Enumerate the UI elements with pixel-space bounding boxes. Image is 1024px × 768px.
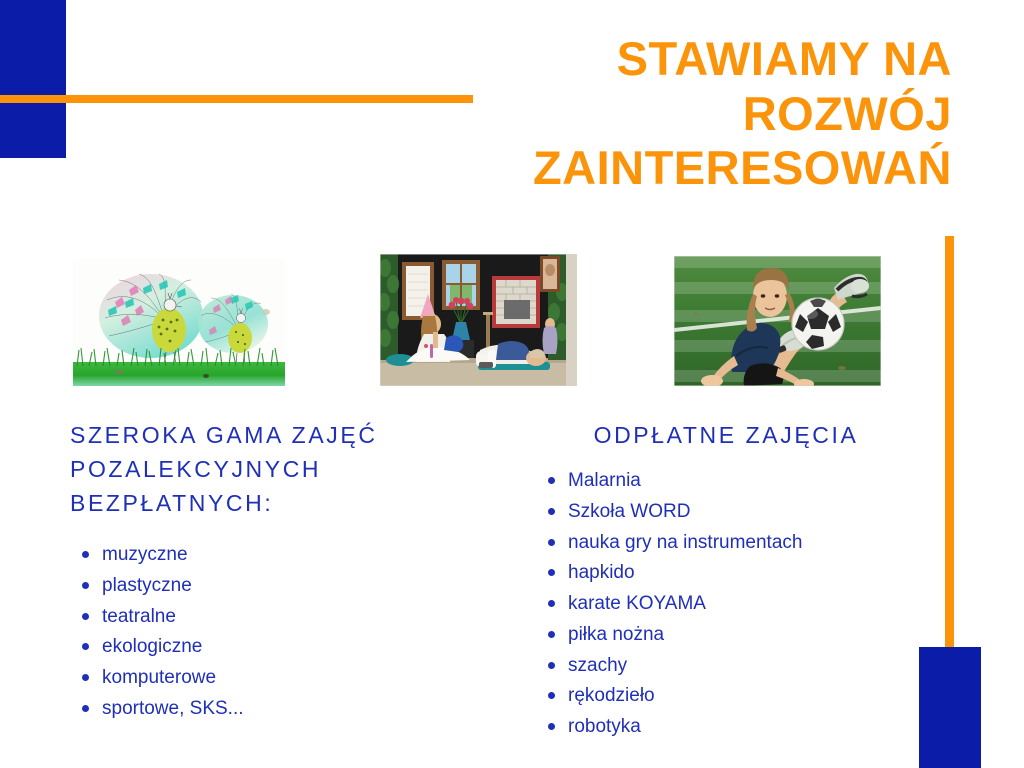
right-text-column: ODPŁATNE ZAJĘCIA Malarnia Szkoła WORD na… <box>536 418 916 743</box>
list-item-label: szachy <box>568 655 627 676</box>
list-item-label: robotyka <box>568 716 641 737</box>
list-item: szachy <box>536 651 916 682</box>
list-item: karate KOYAMA <box>536 589 916 620</box>
list-item: plastyczne <box>70 571 470 602</box>
left-text-column: SZEROKA GAMA ZAJĘĆ POZALEKCYJNYCH BEZPŁA… <box>70 418 470 725</box>
bullet-dot-icon <box>548 692 555 699</box>
list-item: nauka gry na instrumentach <box>536 528 916 559</box>
list-item-label: rękodzieło <box>568 685 655 706</box>
left-column-list: muzyczne plastyczne teatralne ekologiczn… <box>70 540 470 725</box>
slide-title: STAWIAMY NA ROZWÓJ ZAINTERESOWAŃ <box>332 32 952 196</box>
list-item-label: komputerowe <box>102 667 216 688</box>
bullet-dot-icon <box>548 600 555 607</box>
left-column-heading: SZEROKA GAMA ZAJĘĆ POZALEKCYJNYCH BEZPŁA… <box>70 418 470 520</box>
list-item-label: nauka gry na instrumentach <box>568 532 802 553</box>
list-item: Szkoła WORD <box>536 497 916 528</box>
list-item: sportowe, SKS... <box>70 694 470 725</box>
list-item: muzyczne <box>70 540 470 571</box>
list-item-label: karate KOYAMA <box>568 593 706 614</box>
bullet-dot-icon <box>548 631 555 638</box>
list-item-label: ekologiczne <box>102 636 202 657</box>
list-item-label: plastyczne <box>102 575 192 596</box>
photo-girl-with-football <box>674 256 881 386</box>
list-item: robotyka <box>536 712 916 743</box>
bullet-dot-icon <box>548 723 555 730</box>
photo-school-theatre-performance <box>380 254 577 386</box>
photo-peacocks-watercolour-drawing <box>73 258 285 386</box>
right-column-list: Malarnia Szkoła WORD nauka gry na instru… <box>536 466 916 743</box>
bullet-dot-icon <box>548 662 555 669</box>
list-item-label: piłka nożna <box>568 624 664 645</box>
bullet-dot-icon <box>548 477 555 484</box>
list-item-label: sportowe, SKS... <box>102 698 244 719</box>
list-item: ekologiczne <box>70 632 470 663</box>
bullet-dot-icon <box>548 508 555 515</box>
bullet-dot-icon <box>82 613 89 620</box>
list-item: teatralne <box>70 602 470 633</box>
slide-title-line-3: ZAINTERESOWAŃ <box>332 141 952 196</box>
list-item-label: teatralne <box>102 606 176 627</box>
list-item: piłka nożna <box>536 620 916 651</box>
right-column-heading: ODPŁATNE ZAJĘCIA <box>536 418 916 452</box>
bullet-dot-icon <box>82 674 89 681</box>
decor-blue-rectangle-bottom-right <box>919 647 981 768</box>
list-item-label: muzyczne <box>102 544 188 565</box>
slide-canvas: STAWIAMY NA ROZWÓJ ZAINTERESOWAŃ <box>0 0 1024 768</box>
bullet-dot-icon <box>82 705 89 712</box>
list-item: hapkido <box>536 558 916 589</box>
bullet-dot-icon <box>548 539 555 546</box>
list-item: rękodzieło <box>536 681 916 712</box>
list-item: komputerowe <box>70 663 470 694</box>
list-item-label: Malarnia <box>568 470 641 491</box>
list-item-label: Szkoła WORD <box>568 501 690 522</box>
decor-blue-rectangle-top-left <box>0 0 66 158</box>
bullet-dot-icon <box>82 643 89 650</box>
bullet-dot-icon <box>82 582 89 589</box>
slide-title-line-2: ROZWÓJ <box>332 87 952 142</box>
bullet-dot-icon <box>548 569 555 576</box>
list-item: Malarnia <box>536 466 916 497</box>
slide-title-line-1: STAWIAMY NA <box>332 32 952 87</box>
bullet-dot-icon <box>82 551 89 558</box>
list-item-label: hapkido <box>568 562 635 583</box>
